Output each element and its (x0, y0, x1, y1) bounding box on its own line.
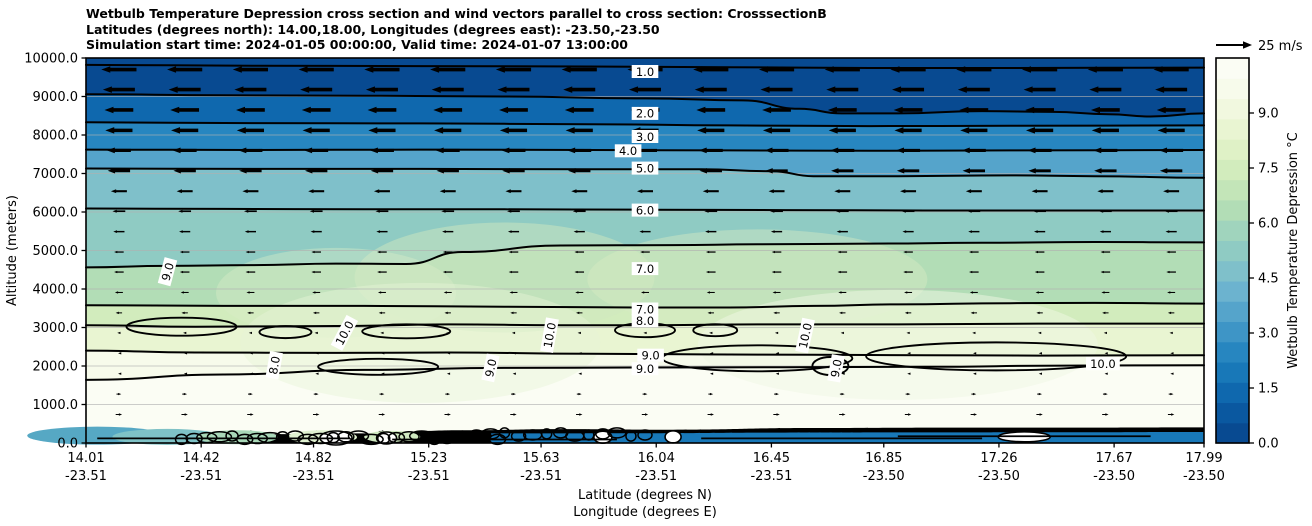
colorbar-swatch (1216, 180, 1249, 201)
colorbar-tick-label: 9.0 (1258, 107, 1279, 122)
x-axis-tick-label-lon: -23.51 (635, 469, 677, 484)
contour-label: 4.0 (619, 144, 637, 158)
y-axis-tick-label: 4000.0 (33, 283, 79, 298)
x-axis-tick-label-lat: 16.45 (753, 451, 790, 466)
y-axis-tick-label: 10000.0 (24, 52, 78, 67)
x-axis-tick-label-lat: 15.63 (522, 451, 559, 466)
colorbar-swatch (1216, 321, 1249, 342)
x-axis-tick-label-lon: -23.51 (293, 469, 335, 484)
x-axis-tick-label-lon: -23.51 (408, 469, 450, 484)
title-line-1: Wetbulb Temperature Depression cross sec… (86, 6, 1206, 22)
contour-label: 1.0 (636, 65, 654, 79)
colorbar-title: Wetbulb Temperature Depression °C (1286, 132, 1301, 369)
x-axis-tick-label-lon: -23.50 (1093, 469, 1135, 484)
contour-label: 8.0 (636, 314, 654, 328)
colorbar-swatch (1216, 402, 1249, 423)
contour-label: 3.0 (636, 130, 654, 144)
colorbar-tick-label: 1.5 (1258, 382, 1279, 397)
x-axis-tick-label-lat: 17.67 (1096, 451, 1133, 466)
contour-label: 9.0 (636, 362, 654, 376)
colorbar: 0.01.53.04.56.07.59.0Wetbulb Temperature… (1216, 58, 1301, 452)
contour-label: 10.0 (1090, 357, 1116, 371)
contour-label: 9.0 (641, 349, 659, 363)
y-axis-tick-label: 9000.0 (33, 90, 79, 105)
x-axis-tick-label-lat: 16.04 (638, 451, 675, 466)
y-axis-tick-label: 2000.0 (33, 360, 79, 375)
figure-root: Wetbulb Temperature Depression cross sec… (0, 0, 1312, 526)
colorbar-tick-label: 7.5 (1258, 162, 1279, 177)
colorbar-swatch (1216, 159, 1249, 180)
colorbar-tick-label: 6.0 (1258, 217, 1279, 232)
y-axis-tick-label: 3000.0 (33, 321, 79, 336)
contour-label: 7.0 (636, 262, 654, 276)
x-axis-tick-label-lat: 14.01 (67, 451, 104, 466)
colorbar-swatch (1216, 99, 1249, 120)
colorbar-swatch (1216, 261, 1249, 282)
x-axis-tick-label-lon: -23.51 (180, 469, 222, 484)
x-axis-tick-label-lat: 14.42 (183, 451, 220, 466)
y-axis-title: Altitude (meters) (5, 195, 20, 306)
x-axis-tick-label-lon: -23.50 (1183, 469, 1225, 484)
x-axis-tick-label-lat: 16.85 (865, 451, 902, 466)
colorbar-tick-label: 4.5 (1258, 272, 1279, 287)
x-axis-title-latitude: Latitude (degrees N) (578, 488, 712, 503)
colorbar-swatch (1216, 281, 1249, 302)
x-axis-tick-label-lat: 17.99 (1185, 451, 1222, 466)
reference-vector: 25 m/s (1216, 39, 1303, 54)
colorbar-swatch (1216, 382, 1249, 403)
y-axis-tick-label: 5000.0 (33, 244, 79, 259)
contour-label: 2.0 (636, 107, 654, 121)
x-axis-tick-label-lon: -23.51 (520, 469, 562, 484)
reference-vector-label: 25 m/s (1258, 39, 1303, 54)
y-axis-tick-label: 0.0 (57, 437, 78, 452)
y-axis-tick-label: 6000.0 (33, 206, 79, 221)
colorbar-swatch (1216, 423, 1249, 444)
figure-title: Wetbulb Temperature Depression cross sec… (86, 6, 1206, 53)
colorbar-swatch (1216, 240, 1249, 261)
contour-label: 5.0 (636, 161, 654, 175)
x-axis-title-longitude: Longitude (degrees E) (573, 505, 717, 520)
colorbar-swatch (1216, 301, 1249, 322)
x-axis-tick-label-lon: -23.51 (65, 469, 107, 484)
colorbar-swatch (1216, 78, 1249, 99)
colorbar-tick-label: 3.0 (1258, 327, 1279, 342)
title-line-2: Latitudes (degrees north): 14.00,18.00, … (86, 22, 1206, 38)
y-axis-tick-label: 7000.0 (33, 167, 79, 182)
colorbar-swatch (1216, 139, 1249, 160)
x-axis-tick-label-lon: -23.50 (978, 469, 1020, 484)
colorbar-tick-label: 0.0 (1258, 437, 1279, 452)
cross-section-plot: 1.02.03.04.05.06.07.07.08.09.09.09.010.0… (0, 0, 1312, 526)
colorbar-swatch (1216, 200, 1249, 221)
x-axis: 14.01-23.5114.42-23.5114.82-23.5115.23-2… (65, 443, 1225, 520)
title-line-3: Simulation start time: 2024-01-05 00:00:… (86, 37, 1206, 53)
x-axis-tick-label-lat: 14.82 (295, 451, 332, 466)
x-axis-tick-label-lon: -23.51 (750, 469, 792, 484)
x-axis-tick-label-lat: 15.23 (410, 451, 447, 466)
contour-label: 6.0 (636, 203, 654, 217)
colorbar-swatch (1216, 58, 1249, 79)
y-axis-tick-label: 1000.0 (33, 398, 79, 413)
x-axis-tick-label-lat: 17.26 (980, 451, 1017, 466)
colorbar-swatch (1216, 119, 1249, 140)
y-axis: 0.01000.02000.03000.04000.05000.06000.07… (5, 52, 86, 452)
colorbar-swatch (1216, 342, 1249, 363)
colorbar-swatch (1216, 220, 1249, 241)
y-axis-tick-label: 8000.0 (33, 129, 79, 144)
colorbar-swatch (1216, 362, 1249, 383)
x-axis-tick-label-lon: -23.50 (863, 469, 905, 484)
